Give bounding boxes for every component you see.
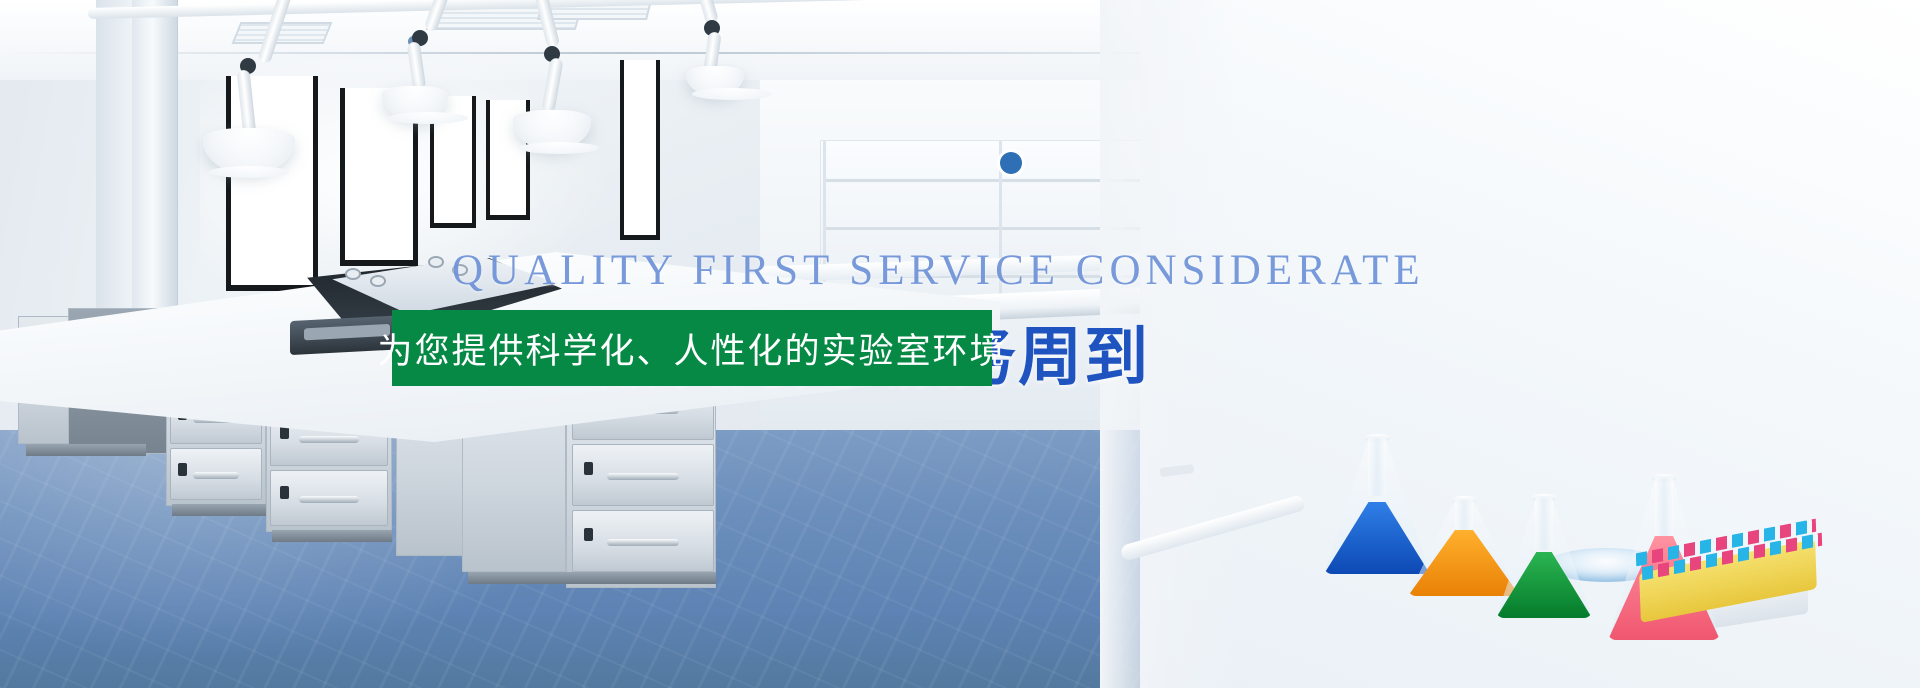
- banner-subtitle-text: 为您提供科学化、人性化的实验室环境: [378, 323, 1007, 374]
- banner-text-group: QUALITY FIRST SERVICE CONSIDERATE 品质为先服务…: [0, 0, 1920, 688]
- banner-subtitle-strip: 为您提供科学化、人性化的实验室环境: [392, 310, 992, 386]
- promotional-banner: QUALITY FIRST SERVICE CONSIDERATE 品质为先服务…: [0, 0, 1920, 688]
- banner-eyebrow-text: QUALITY FIRST SERVICE CONSIDERATE: [452, 246, 1425, 295]
